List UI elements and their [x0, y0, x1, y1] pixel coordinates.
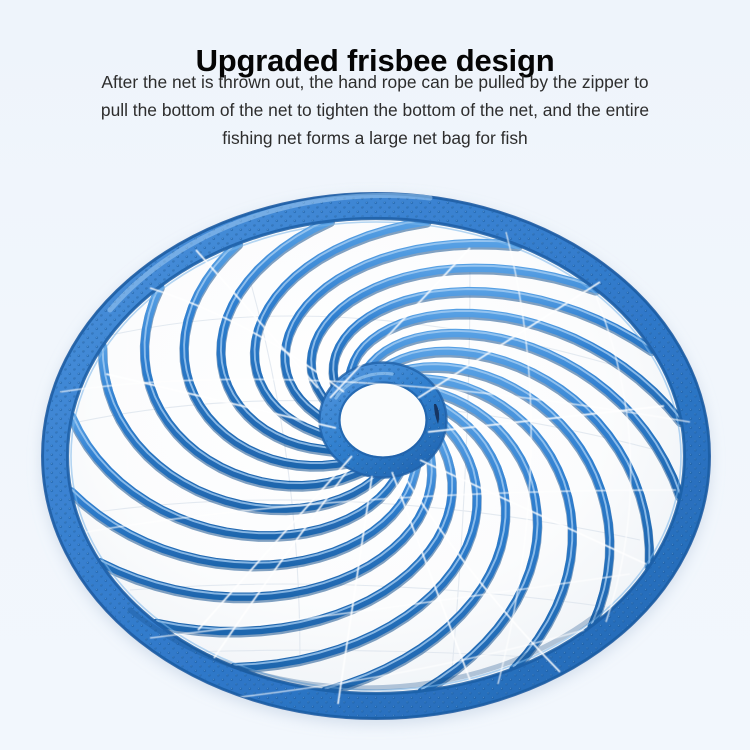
- frisbee-illustration: [0, 160, 750, 750]
- description-line-2: pull the bottom of the net to tighten th…: [40, 96, 710, 124]
- description-line-3: fishing net forms a large net bag for fi…: [40, 124, 710, 152]
- product-detail-page: Upgraded frisbee design After the net is…: [0, 0, 750, 750]
- description-line-1: After the net is thrown out, the hand ro…: [40, 68, 710, 96]
- product-image: [0, 160, 750, 750]
- center-hub: [320, 363, 447, 478]
- frisbee-disc: [43, 194, 710, 719]
- product-description: After the net is thrown out, the hand ro…: [40, 68, 710, 152]
